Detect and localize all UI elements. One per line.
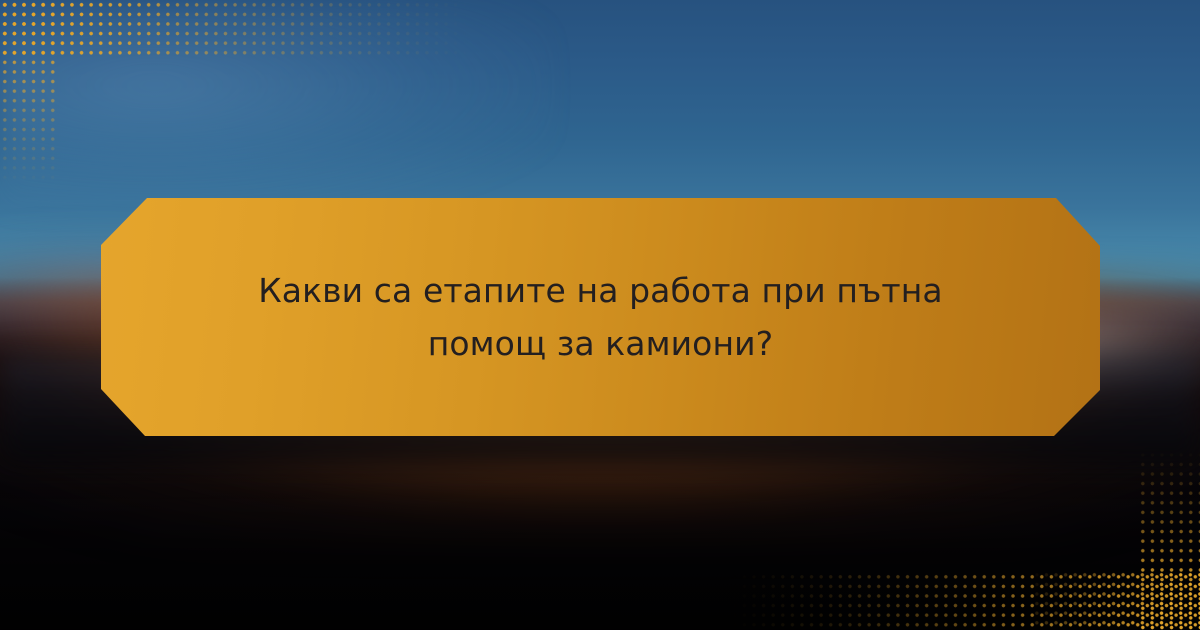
title-banner: Какви са етапите на работа при пътна пом… — [101, 198, 1100, 436]
social-card-canvas: Какви са етапите на работа при пътна пом… — [0, 0, 1200, 630]
sky-highlight — [0, 0, 552, 214]
page-title: Какви са етапите на работа при пътна пом… — [211, 264, 991, 371]
bottom-vignette — [0, 466, 1200, 630]
